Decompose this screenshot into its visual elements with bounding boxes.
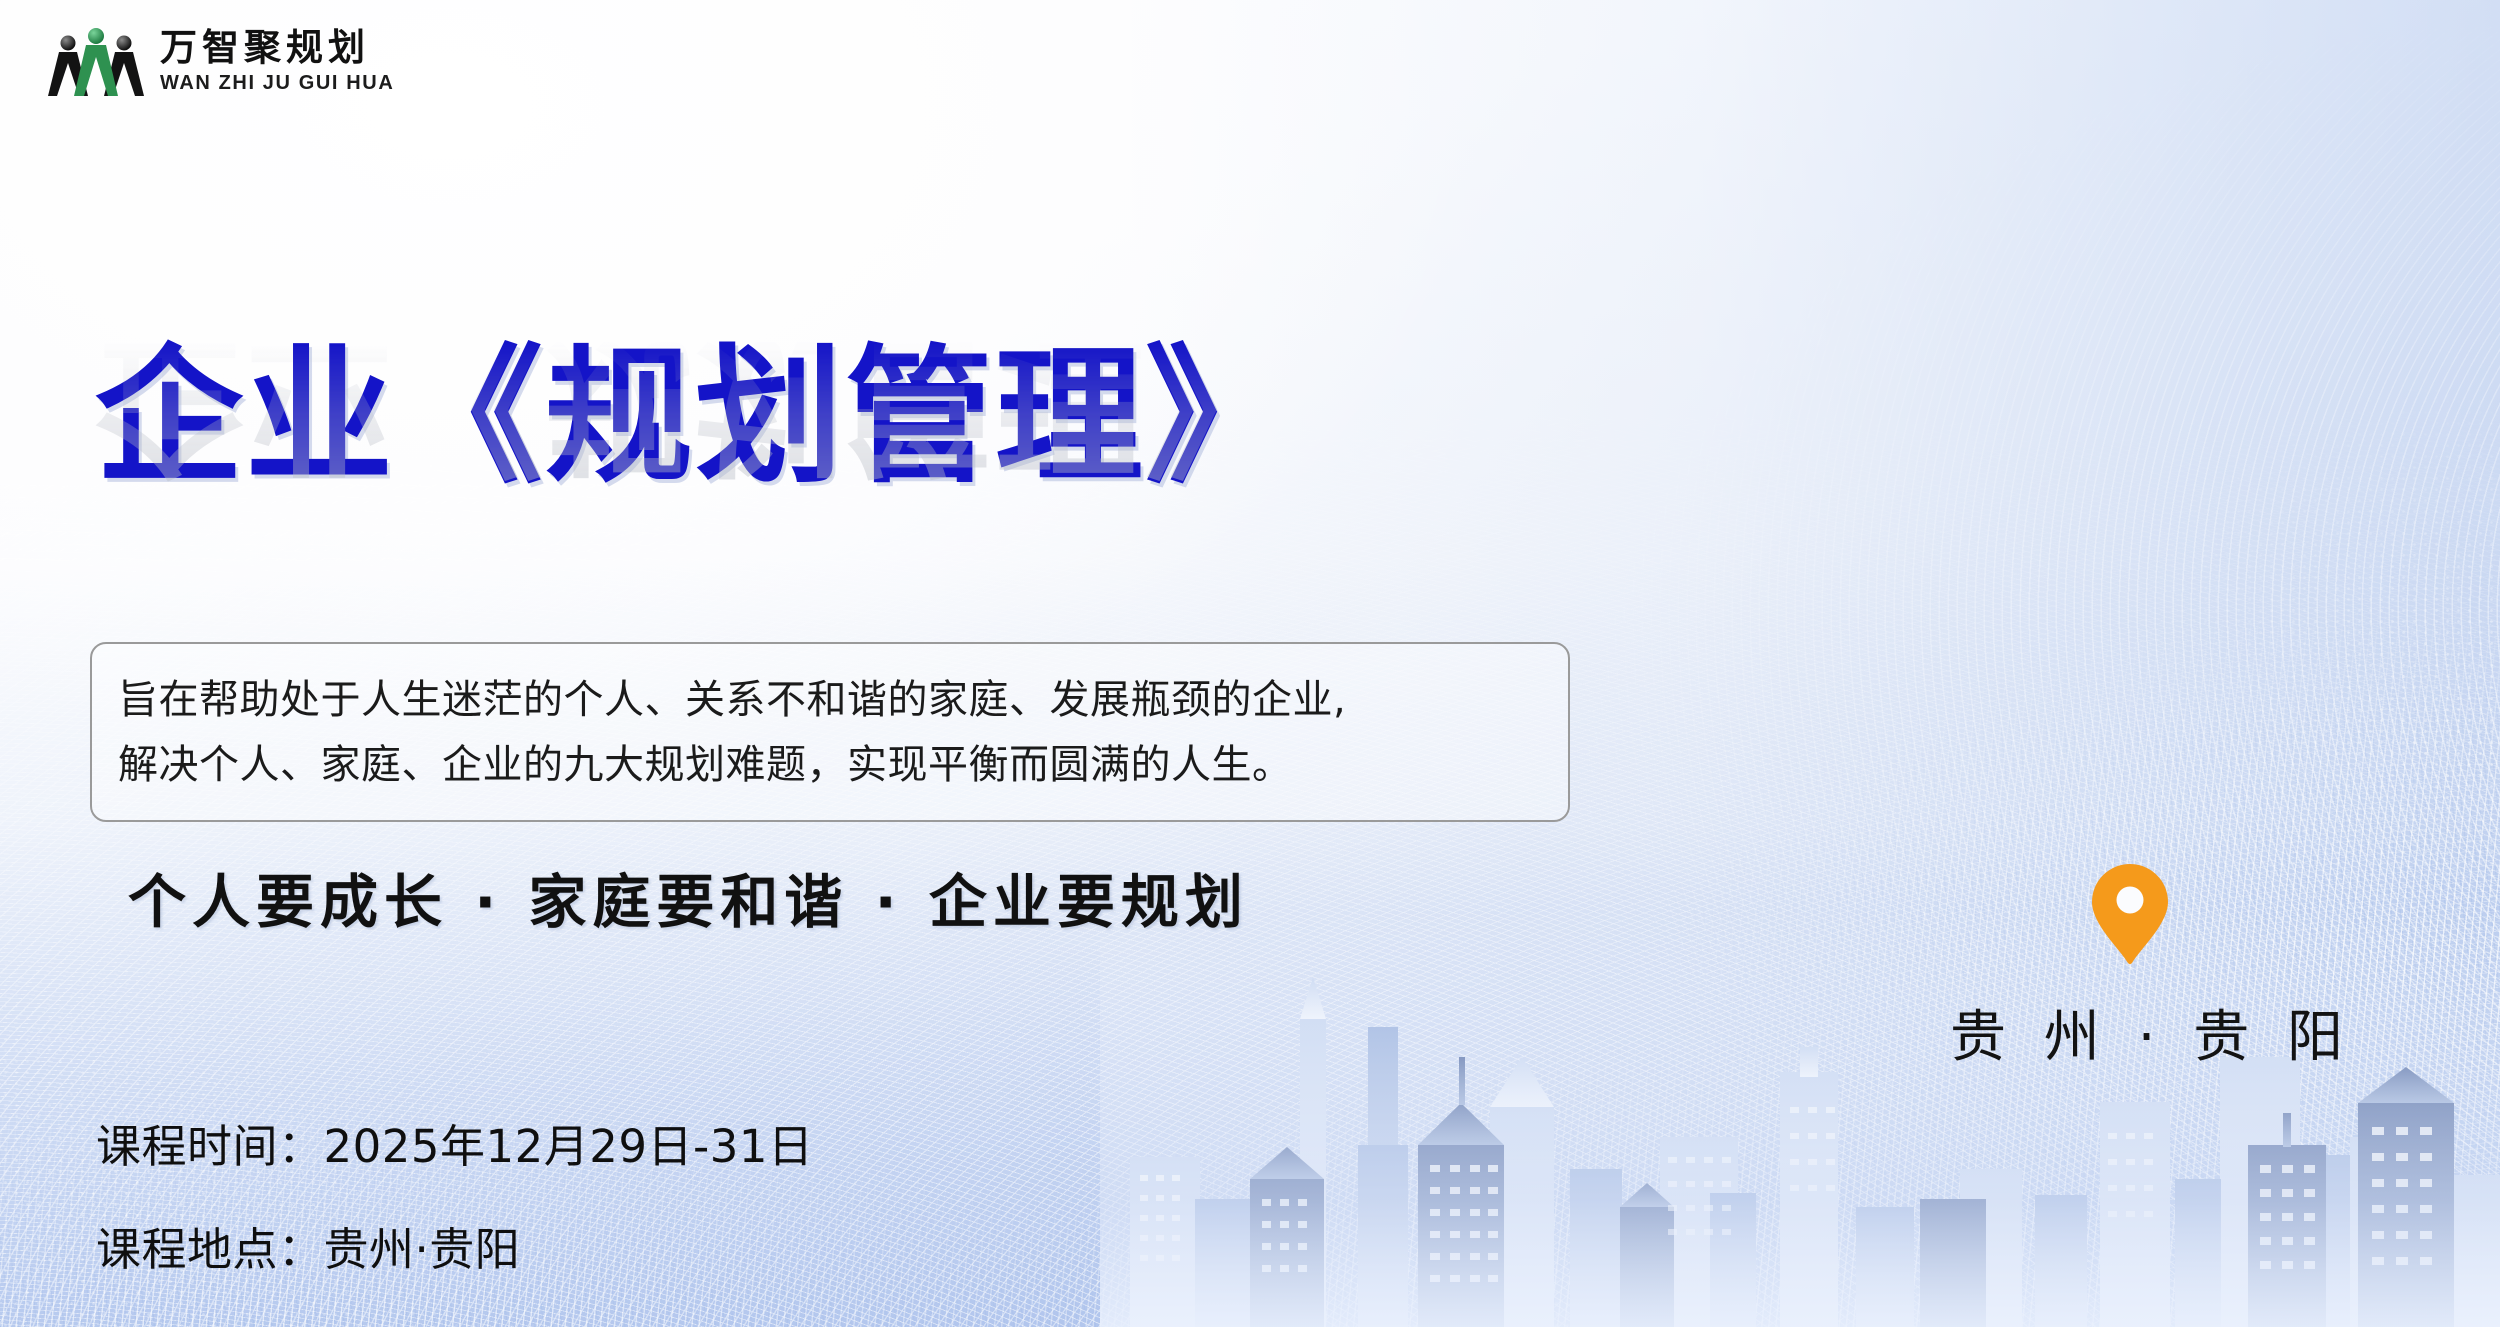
description-line-2: 解决个人、家庭、企业的九大规划难题，实现平衡而圆满的人生。 — [118, 733, 1542, 798]
page-title-reflection: 企业《规划管理》 — [95, 316, 1655, 491]
course-place-row: 课程地点：贵州·贵阳 — [96, 1213, 814, 1278]
location-badge: 贵 州 · 贵 阳 — [1950, 862, 2310, 1073]
course-info: 课程时间：2025年12月29日-31日 课程地点：贵州·贵阳 — [96, 1110, 814, 1278]
course-time-row: 课程时间：2025年12月29日-31日 — [96, 1110, 814, 1175]
description-box: 旨在帮助处于人生迷茫的个人、关系不和谐的家庭、发展瓶颈的企业, 解决个人、家庭、… — [90, 642, 1570, 822]
three-people-logo-icon — [48, 22, 144, 100]
brand-text: 万智聚规划 WAN ZHI JU GUI HUA — [160, 29, 394, 93]
slogan-text: 个人要成长 · 家庭要和谐 · 企业要规划 — [128, 855, 1249, 939]
brand-name-cn: 万智聚规划 — [160, 29, 394, 66]
location-label: 贵 州 · 贵 阳 — [1950, 992, 2310, 1073]
hero-title-block: 企业《规划管理》 企业《规划管理》 — [95, 330, 1655, 665]
map-pin-icon — [2089, 862, 2171, 966]
brand-name-en: WAN ZHI JU GUI HUA — [160, 73, 394, 93]
description-line-1: 旨在帮助处于人生迷茫的个人、关系不和谐的家庭、发展瓶颈的企业, — [118, 668, 1542, 733]
poster-canvas: 万智聚规划 WAN ZHI JU GUI HUA 企业《规划管理》 企业《规划管… — [0, 0, 2500, 1327]
brand-logo: 万智聚规划 WAN ZHI JU GUI HUA — [48, 22, 394, 100]
